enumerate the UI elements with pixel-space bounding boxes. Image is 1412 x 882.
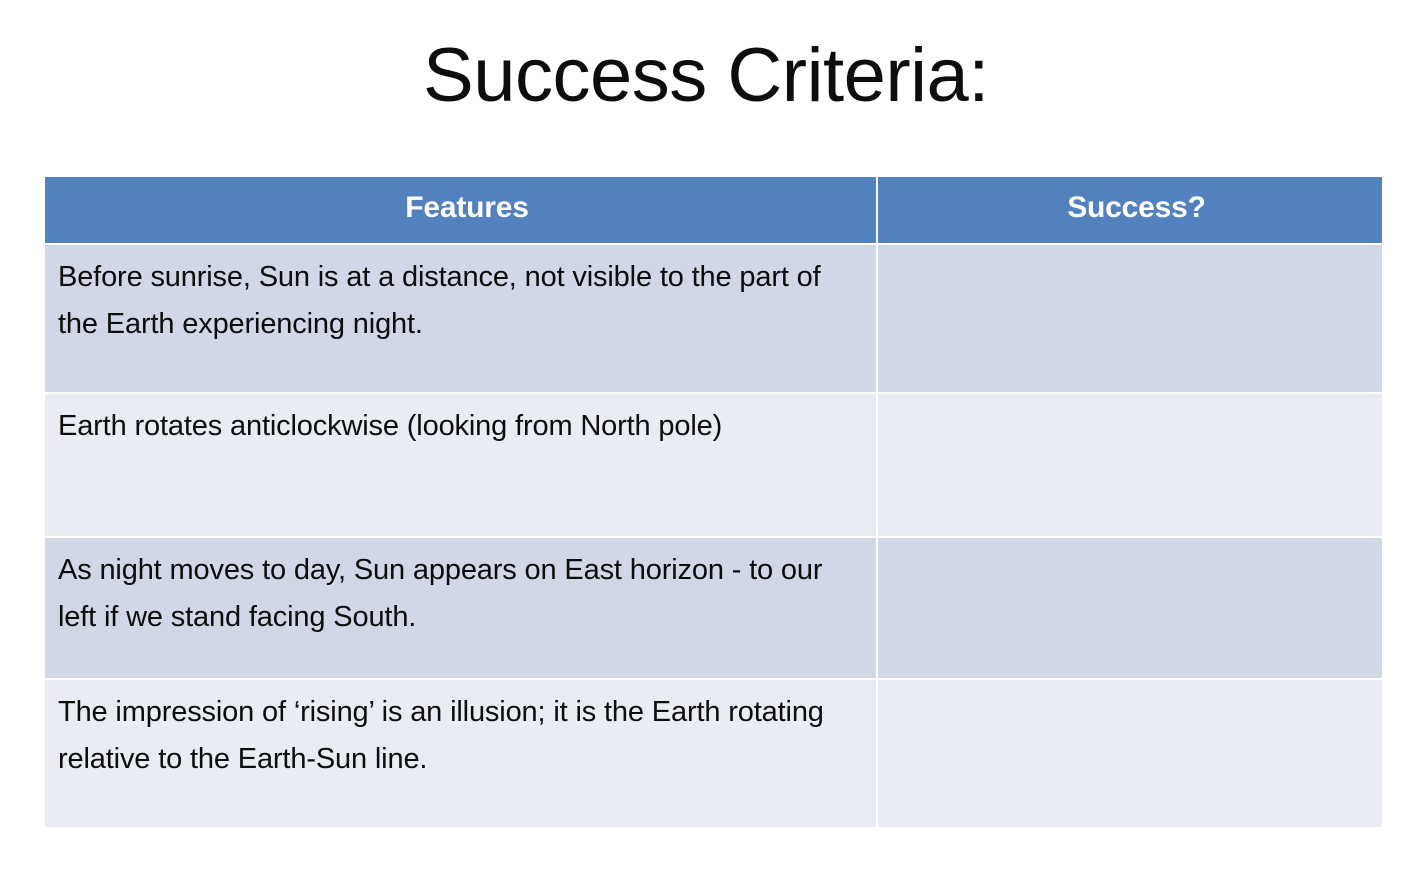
cell-success-2-text [878,394,1382,404]
cell-success-1[interactable] [878,245,1382,394]
table-row: The impression of ‘rising’ is an illusio… [45,680,1382,827]
cell-feature-2: Earth rotates anticlockwise (looking fro… [45,394,878,538]
slide-canvas: Success Criteria: Features Success? Befo… [0,0,1412,882]
column-header-success-label: Success? [878,177,1382,225]
cell-feature-4: The impression of ‘rising’ is an illusio… [45,680,878,827]
cell-success-1-text [878,245,1382,255]
cell-feature-4-text: The impression of ‘rising’ is an illusio… [45,680,876,783]
cell-success-3[interactable] [878,538,1382,680]
table-header-row: Features Success? [45,177,1382,245]
cell-feature-2-text: Earth rotates anticlockwise (looking fro… [45,394,876,450]
cell-feature-1: Before sunrise, Sun is at a distance, no… [45,245,878,394]
table-row: As night moves to day, Sun appears on Ea… [45,538,1382,680]
cell-feature-3: As night moves to day, Sun appears on Ea… [45,538,878,680]
cell-success-3-text [878,538,1382,548]
cell-success-4-text [878,680,1382,690]
cell-success-4[interactable] [878,680,1382,827]
success-criteria-table: Features Success? Before sunrise, Sun is… [45,177,1382,827]
cell-success-2[interactable] [878,394,1382,538]
cell-feature-3-text: As night moves to day, Sun appears on Ea… [45,538,876,641]
cell-feature-1-text: Before sunrise, Sun is at a distance, no… [45,245,876,348]
column-header-features: Features [45,177,878,245]
column-header-success: Success? [878,177,1382,245]
table-row: Earth rotates anticlockwise (looking fro… [45,394,1382,538]
column-header-features-label: Features [45,177,876,225]
page-title: Success Criteria: [0,28,1412,124]
table-row: Before sunrise, Sun is at a distance, no… [45,245,1382,394]
